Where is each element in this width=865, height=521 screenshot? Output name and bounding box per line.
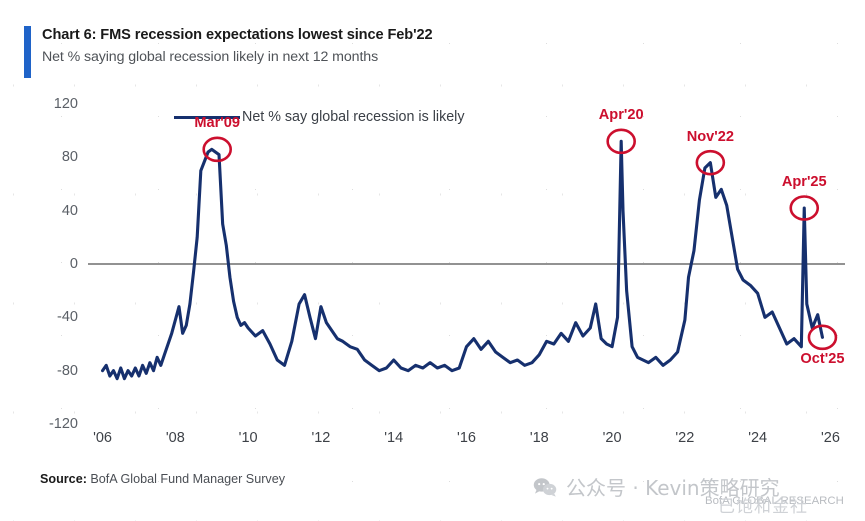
y-axis-tick-label: 120 xyxy=(54,96,78,112)
chart-screenshot: Chart 6: FMS recession expectations lowe… xyxy=(0,0,865,521)
chart-subtitle: Net % saying global recession likely in … xyxy=(42,49,433,65)
x-axis-tick-label: '20 xyxy=(603,430,622,446)
wechat-icon xyxy=(533,477,557,497)
x-axis-tick-label: '14 xyxy=(384,430,403,446)
x-axis-tick-label: '18 xyxy=(530,430,549,446)
y-axis-tick-label: 40 xyxy=(62,203,78,219)
x-axis-tick-label: '16 xyxy=(457,430,476,446)
annotation-label: Nov'22 xyxy=(687,129,734,145)
x-axis-tick-label: '10 xyxy=(239,430,258,446)
y-axis-tick-label: -120 xyxy=(49,416,78,432)
x-axis-tick-label: '26 xyxy=(821,430,840,446)
title-accent-bar xyxy=(24,26,31,78)
series-path xyxy=(103,141,823,378)
page-title: Chart 6: FMS recession expectations lowe… xyxy=(42,27,433,43)
watermark-secondary: 已饱和金社 xyxy=(718,492,808,517)
series-line-net-recession-likely xyxy=(88,104,845,424)
annotation-label: Oct'25 xyxy=(800,351,844,367)
chart-header: Chart 6: FMS recession expectations lowe… xyxy=(24,26,433,78)
annotation-label: Mar'09 xyxy=(194,115,240,131)
annotation-label: Apr'20 xyxy=(599,107,644,123)
x-axis-tick-label: '12 xyxy=(311,430,330,446)
annotation-circle xyxy=(204,138,231,161)
annotation-label: Apr'25 xyxy=(782,174,827,190)
source-note: Source: BofA Global Fund Manager Survey xyxy=(40,472,285,486)
y-axis-tick-label: -40 xyxy=(57,309,78,325)
y-axis-tick-label: 0 xyxy=(70,256,78,272)
y-axis-tick-label: -80 xyxy=(57,363,78,379)
source-label: Source: xyxy=(40,472,87,486)
x-axis-tick-label: '08 xyxy=(166,430,185,446)
x-axis-tick-label: '06 xyxy=(93,430,112,446)
plot-area: 12080400-40-80-120'06'08'10'12'14'16'18'… xyxy=(88,104,845,424)
y-axis-tick-label: 80 xyxy=(62,149,78,165)
source-text: BofA Global Fund Manager Survey xyxy=(87,472,285,486)
x-axis-tick-label: '24 xyxy=(748,430,767,446)
x-axis-tick-label: '22 xyxy=(675,430,694,446)
